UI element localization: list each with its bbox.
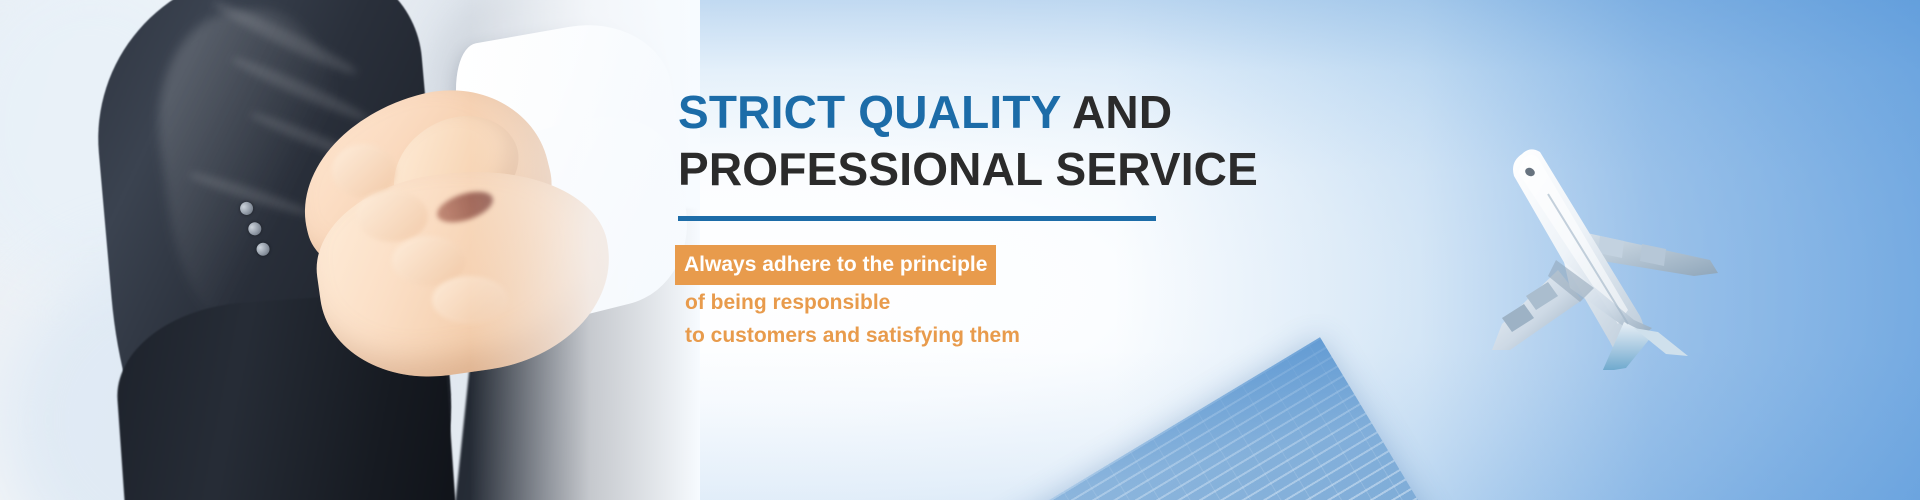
- headline-line-1: STRICT QUALITY AND: [678, 84, 1378, 141]
- photo-right-feather: [470, 0, 700, 500]
- knuckle: [356, 190, 428, 242]
- headline-line-2: PROFESSIONAL SERVICE: [678, 141, 1378, 198]
- banner-text-block: STRICT QUALITY AND PROFESSIONAL SERVICE …: [678, 84, 1378, 351]
- subtitle-highlighted-line: Always adhere to the principle: [675, 245, 996, 285]
- headline-dark-text: AND: [1061, 86, 1173, 138]
- subtitle-block: Always adhere to the principle of being …: [678, 245, 1378, 351]
- airplane-icon: [1452, 110, 1762, 370]
- subtitle-line-1-wrapper: Always adhere to the principle: [678, 245, 1378, 285]
- headline-accent-text: STRICT QUALITY: [678, 86, 1061, 138]
- headline-divider-rule: [678, 216, 1156, 221]
- promo-banner: STRICT QUALITY AND PROFESSIONAL SERVICE …: [0, 0, 1920, 500]
- business-handshake-photo: [0, 0, 700, 500]
- subtitle-line-2: of being responsible: [678, 287, 1378, 318]
- subtitle-line-3: to customers and satisfying them: [678, 320, 1378, 351]
